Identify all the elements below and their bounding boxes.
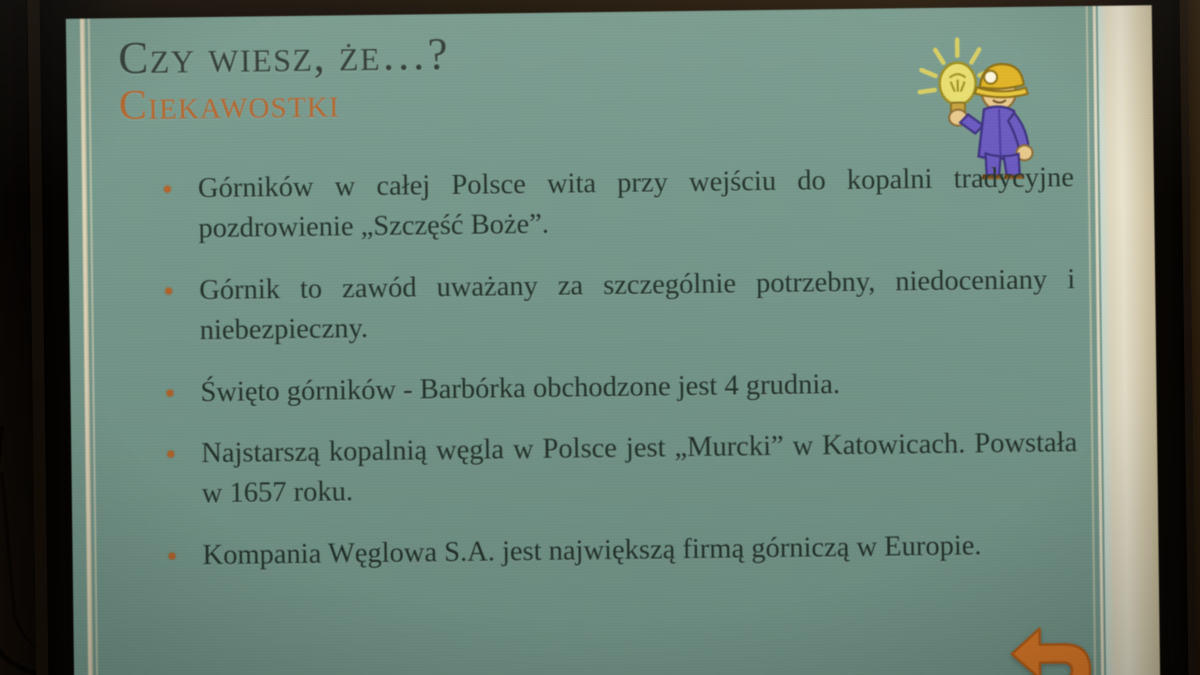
miner-with-lightbulb-icon [910, 29, 1044, 181]
bullet-dot-icon [167, 451, 174, 458]
bullet-dot-icon [165, 287, 172, 294]
list-item: Święto górników - Barbórka obchodzone je… [156, 362, 1076, 413]
list-item-text: Święto górników - Barbórka obchodzone je… [200, 369, 840, 408]
photo-of-projected-slide: Czy wiesz, że…? Ciekawostki [0, 0, 1200, 675]
projected-slide: Czy wiesz, że…? Ciekawostki [66, 5, 1160, 675]
list-item-text: Górnik to zawód uważany za szczególnie p… [199, 264, 1075, 346]
list-item-text: Najstarszą kopalnią węgla w Polsce jest … [201, 428, 1077, 510]
bullet-dot-icon [164, 186, 171, 193]
page-subtitle: Ciekawostki [119, 80, 450, 128]
bullet-dot-icon [169, 553, 176, 560]
list-item: Górnik to zawód uważany za szczególnie p… [155, 260, 1076, 351]
list-item-text: Górników w całej Polsce wita przy wejści… [198, 162, 1074, 244]
bullet-dot-icon [166, 389, 173, 396]
slide-title-block: Czy wiesz, że…? Ciekawostki [118, 32, 450, 128]
slide-content: Czy wiesz, że…? Ciekawostki [66, 5, 1160, 675]
list-item: Najstarszą kopalnią węgla w Polsce jest … [157, 424, 1078, 515]
page-title: Czy wiesz, że…? [118, 32, 449, 81]
slide-border-band-right [1098, 5, 1160, 675]
list-item-text: Kompania Węglowa S.A. jest największą fi… [202, 531, 981, 572]
list-item: Kompania Węglowa S.A. jest największą fi… [158, 525, 1078, 576]
list-item: Górników w całej Polsce wita przy wejści… [154, 158, 1075, 249]
bullet-list: Górników w całej Polsce wita przy wejści… [154, 158, 1079, 577]
back-arrow-icon[interactable] [1005, 624, 1098, 675]
